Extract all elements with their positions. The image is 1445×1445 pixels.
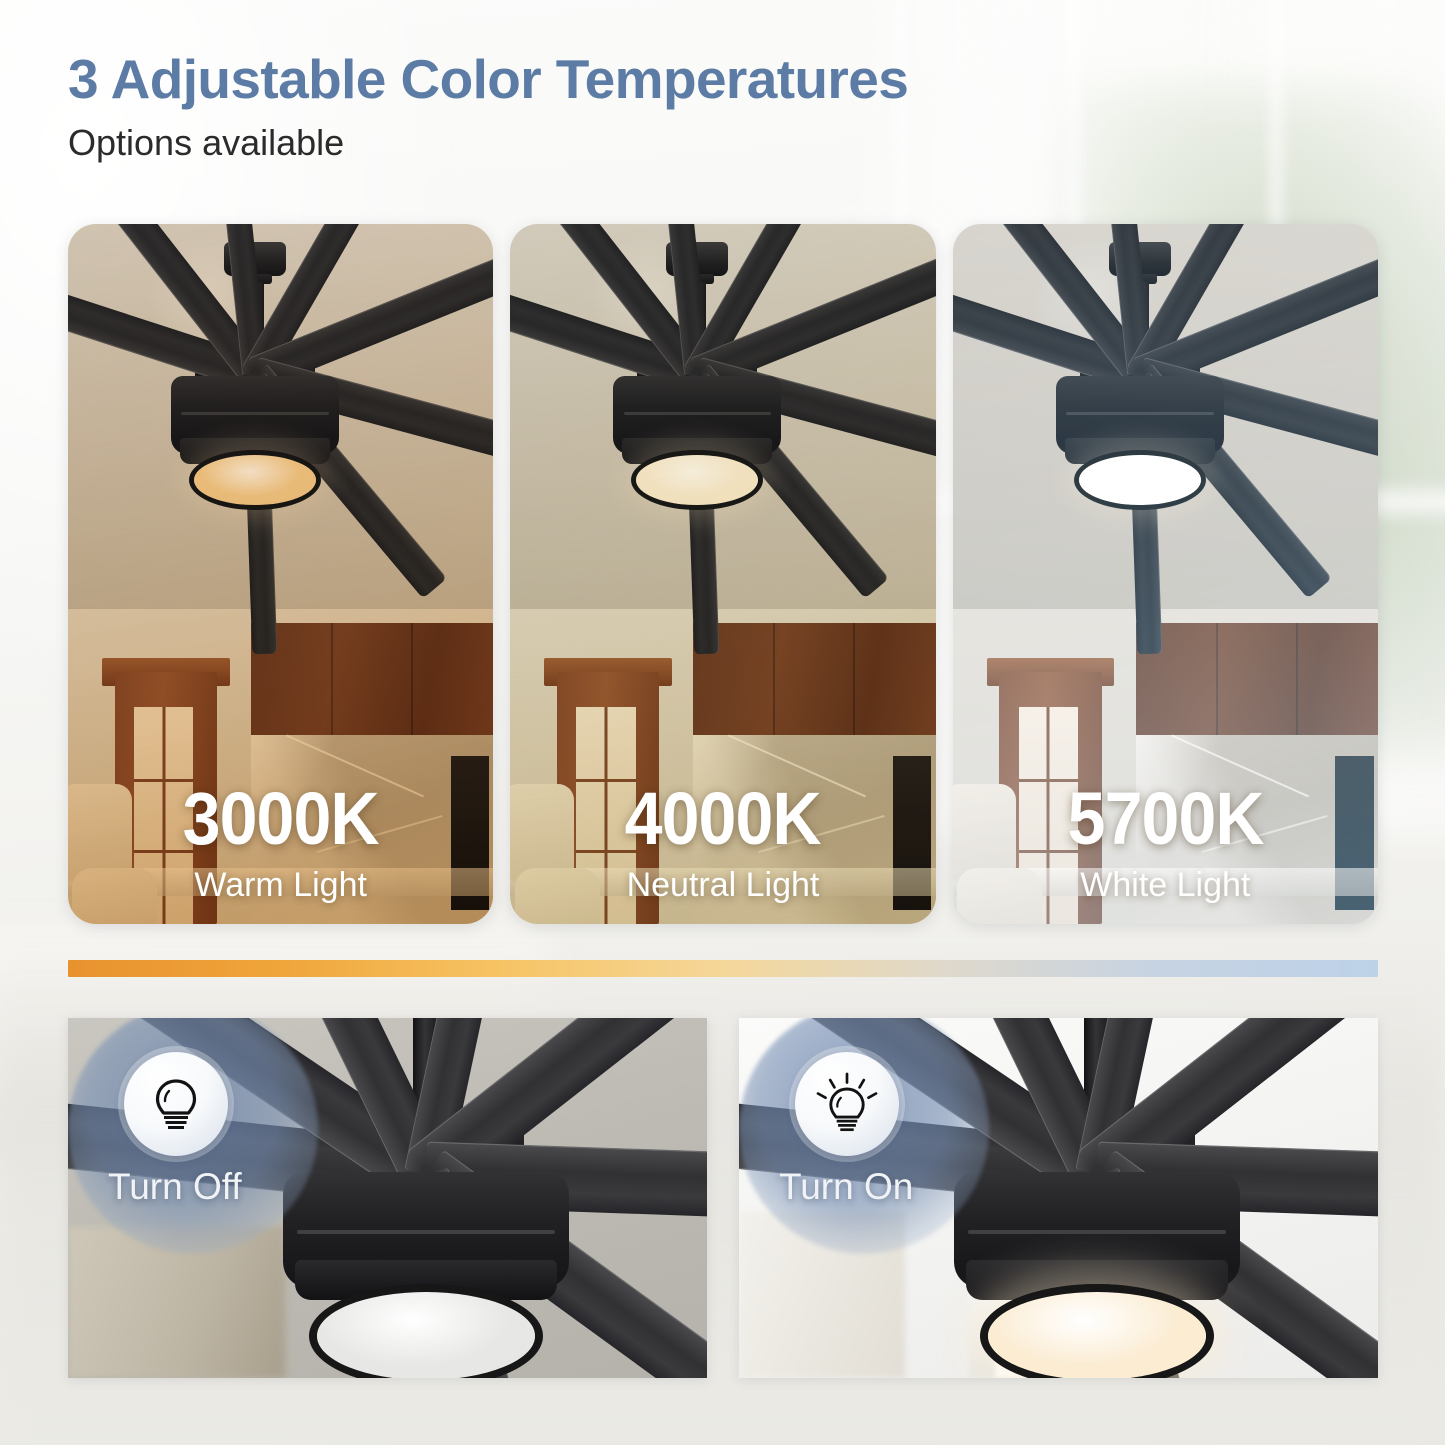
toggle-panel-on[interactable]: Turn On	[739, 1018, 1378, 1378]
toggle-panel-off[interactable]: Turn Off	[68, 1018, 707, 1378]
card-label: 5700K White Light	[953, 782, 1378, 902]
room-wood-cabinet	[251, 623, 493, 742]
heading-block: 3 Adjustable Color Temperatures Options …	[68, 52, 908, 161]
badge-disc	[795, 1052, 899, 1156]
page-title: 3 Adjustable Color Temperatures	[68, 52, 908, 107]
card-label: 4000K Neutral Light	[510, 782, 935, 902]
fan-light-kit	[189, 450, 321, 510]
kelvin-value: 4000K	[527, 782, 918, 856]
fan-light-kit	[1074, 450, 1206, 510]
fan-light-kit	[980, 1284, 1214, 1378]
badge-label: Turn On	[779, 1168, 913, 1205]
temperature-gradient-divider	[68, 960, 1378, 977]
fan-light-lens	[194, 455, 316, 505]
temperature-card[interactable]: 5700K White Light	[953, 224, 1378, 924]
badge-label: Turn Off	[108, 1168, 242, 1205]
light-bulb-on-icon	[814, 1071, 880, 1137]
temperature-card[interactable]: 4000K Neutral Light	[510, 224, 935, 924]
kelvin-value: 3000K	[85, 782, 476, 856]
room-wood-cabinet	[693, 623, 935, 742]
light-name: Warm Light	[68, 868, 493, 902]
card-label: 3000K Warm Light	[68, 782, 493, 902]
room-wood-cabinet	[1136, 623, 1378, 742]
light-bulb-off-icon	[148, 1073, 204, 1135]
badge-disc	[124, 1052, 228, 1156]
temperature-card-row: 3000K Warm Light	[68, 224, 1378, 924]
page-subtitle: Options available	[68, 125, 908, 161]
light-name: Neutral Light	[510, 868, 935, 902]
light-name: White Light	[953, 868, 1378, 902]
fan-light-lens	[1079, 455, 1201, 505]
fan-light-lens	[988, 1292, 1206, 1378]
fan-light-kit	[309, 1284, 543, 1378]
fan-light-lens	[636, 455, 758, 505]
fan-light-lens	[317, 1292, 535, 1378]
toggle-panel-row: Turn Off	[68, 1018, 1378, 1378]
kelvin-value: 5700K	[970, 782, 1361, 856]
fan-light-kit	[631, 450, 763, 510]
temperature-card[interactable]: 3000K Warm Light	[68, 224, 493, 924]
